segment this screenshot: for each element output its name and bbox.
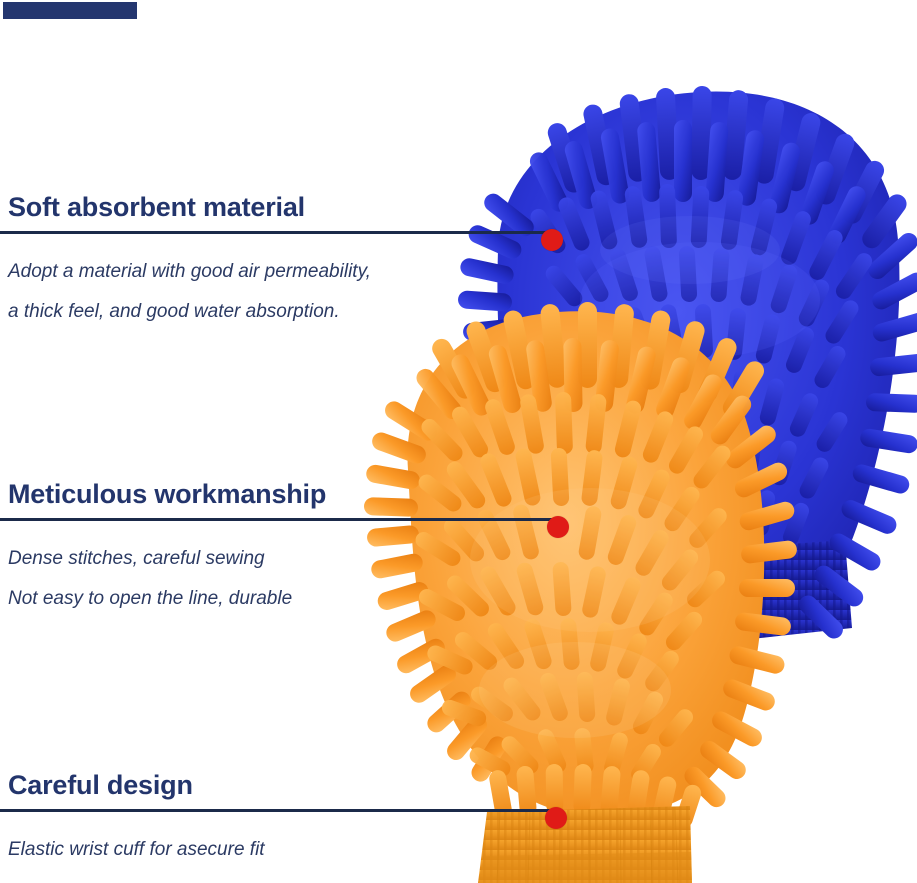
infographic-canvas: Soft absorbent material Adopt a material… [0, 0, 917, 883]
callout-dot-1 [541, 229, 563, 251]
feature-2-line-1: Dense stitches, careful sewing [8, 539, 558, 579]
feature-2-title: Meticulous workmanship [8, 477, 558, 511]
feature-1-description: Adopt a material with good air permeabil… [8, 252, 552, 332]
callout-dot-2 [547, 516, 569, 538]
product-image [0, 0, 917, 883]
feature-1-title: Soft absorbent material [8, 190, 552, 224]
top-accent-bar [3, 2, 137, 19]
feature-1-line-1: Adopt a material with good air permeabil… [8, 252, 552, 292]
feature-2-connector-line [0, 518, 558, 521]
feature-2-description: Dense stitches, careful sewing Not easy … [8, 539, 558, 619]
feature-3-description: Elastic wrist cuff for asecure fit [8, 830, 556, 870]
feature-block-3: Careful design Elastic wrist cuff for as… [0, 768, 556, 870]
feature-1-line-2: a thick feel, and good water absorption. [8, 292, 552, 332]
feature-3-title: Careful design [8, 768, 556, 802]
callout-dot-3 [545, 807, 567, 829]
feature-block-1: Soft absorbent material Adopt a material… [0, 190, 552, 332]
wash-mitt-illustration [0, 0, 917, 883]
feature-3-line-1: Elastic wrist cuff for asecure fit [8, 830, 556, 870]
feature-block-2: Meticulous workmanship Dense stitches, c… [0, 477, 558, 619]
feature-1-connector-line [0, 231, 552, 234]
feature-3-connector-line [0, 809, 556, 812]
feature-2-line-2: Not easy to open the line, durable [8, 579, 558, 619]
